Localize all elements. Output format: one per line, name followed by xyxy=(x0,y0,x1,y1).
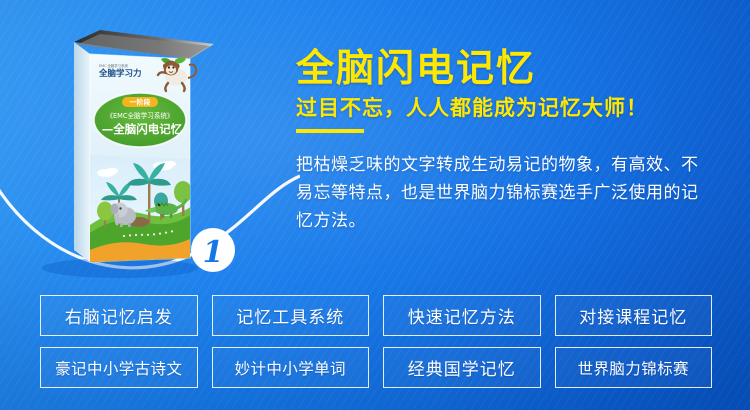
svg-text:一阶段: 一阶段 xyxy=(130,98,151,107)
title-underline-rule xyxy=(296,129,364,133)
svg-text:全脑学习力: 全脑学习力 xyxy=(98,68,142,79)
page-subtitle: 过目不忘，人人都能成为记忆大师！ xyxy=(296,96,736,120)
description-text: 把枯燥乏味的文字转成生动易记的物象，有高效、不易忘等特点，也是世界脑力锦标赛选手… xyxy=(296,151,714,235)
product-box-artwork: EMC 全脑学习系统 全脑学习力 xyxy=(0,0,300,300)
svg-text:1: 1 xyxy=(203,235,224,270)
promo-banner: EMC 全脑学习系统 全脑学习力 xyxy=(0,0,750,410)
feature-tag[interactable]: 妙计中小学单词 xyxy=(212,347,370,388)
cover-title-plaque: 一阶段 《EMC全脑学习系统》 —全脑闪电记忆 xyxy=(94,93,186,147)
svg-text:EMC 全脑学习系统: EMC 全脑学习系统 xyxy=(99,63,128,68)
feature-tag-grid: 右脑记忆启发 记忆工具系统 快速记忆方法 对接课程记忆 豪记中小学古诗文 妙计中… xyxy=(40,295,712,388)
box-spine-face xyxy=(74,42,90,262)
page-title: 全脑闪电记忆 xyxy=(296,48,736,89)
feature-tag[interactable]: 经典国学记忆 xyxy=(383,347,541,388)
svg-text:—全脑闪电记忆: —全脑闪电记忆 xyxy=(102,122,183,136)
feature-tag[interactable]: 记忆工具系统 xyxy=(212,295,370,336)
copy-block: 全脑闪电记忆 过目不忘，人人都能成为记忆大师！ 把枯燥乏味的文字转成生动易记的物… xyxy=(296,48,736,235)
step-number-badge: 1 xyxy=(191,228,235,272)
feature-tag[interactable]: 世界脑力锦标赛 xyxy=(555,347,713,388)
feature-tag[interactable]: 右脑记忆启发 xyxy=(40,295,198,336)
svg-text:《EMC全脑学习系统》: 《EMC全脑学习系统》 xyxy=(106,111,173,120)
feature-tag[interactable]: 对接课程记忆 xyxy=(555,295,713,336)
feature-tag[interactable]: 豪记中小学古诗文 xyxy=(40,347,198,388)
cover-scene-illustration xyxy=(86,152,192,274)
feature-tag[interactable]: 快速记忆方法 xyxy=(383,295,541,336)
